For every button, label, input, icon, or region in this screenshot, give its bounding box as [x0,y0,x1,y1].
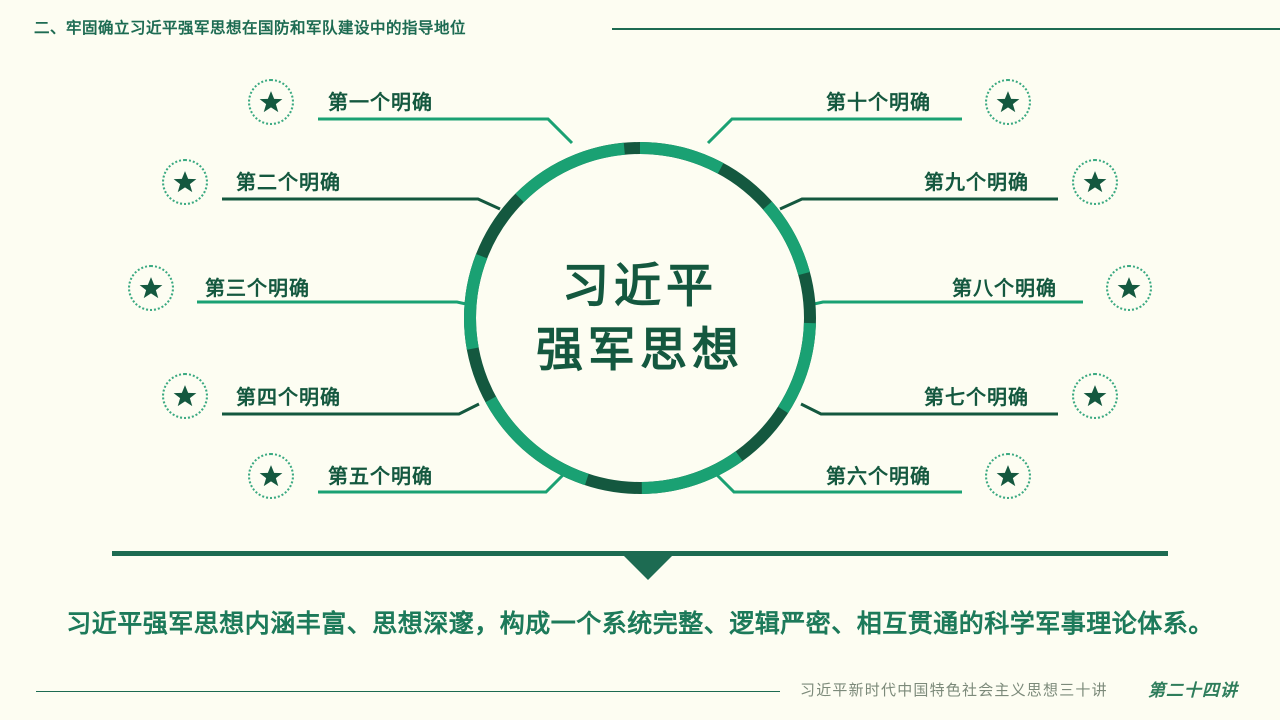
star-icon [1082,383,1108,409]
item-label-10: 第十个明确 [826,86,931,115]
star-icon [1116,275,1142,301]
summary-text: 习近平强军思想内涵丰富、思想深邃，构成一个系统完整、逻辑严密、相互贯通的科学军事… [0,604,1280,640]
item-label-1: 第一个明确 [328,86,433,115]
central-ring [455,133,825,503]
connector-line-3 [197,302,466,304]
star-badge-6[interactable] [985,453,1031,499]
star-badge-3[interactable] [128,265,174,311]
footer-divider [36,691,780,692]
item-label-6: 第六个明确 [826,460,931,489]
star-icon [1082,169,1108,195]
footer-lecture-number: 第二十四讲 [1148,676,1238,701]
page-title: 二、牢固确立习近平强军思想在国防和军队建设中的指导地位 [34,16,466,38]
star-badge-1[interactable] [248,79,294,125]
connector-line-8 [814,302,1083,304]
item-label-4: 第四个明确 [236,381,341,410]
star-icon [172,383,198,409]
down-arrow-icon [624,556,672,580]
star-badge-4[interactable] [162,373,208,419]
star-badge-7[interactable] [1072,373,1118,419]
star-badge-8[interactable] [1106,265,1152,311]
star-badge-5[interactable] [248,453,294,499]
item-label-7: 第七个明确 [924,381,1029,410]
item-label-9: 第九个明确 [924,166,1029,195]
item-label-3: 第三个明确 [205,272,310,301]
star-icon [172,169,198,195]
item-label-8: 第八个明确 [952,272,1057,301]
star-icon [995,89,1021,115]
star-icon [258,463,284,489]
star-icon [138,275,164,301]
footer-series-title: 习近平新时代中国特色社会主义思想三十讲 [800,679,1108,700]
star-badge-2[interactable] [162,159,208,205]
item-label-2: 第二个明确 [236,166,341,195]
star-icon [995,463,1021,489]
item-label-5: 第五个明确 [328,460,433,489]
star-icon [258,89,284,115]
header-divider [612,28,1280,30]
star-badge-10[interactable] [985,79,1031,125]
slide-header: 二、牢固确立习近平强军思想在国防和军队建设中的指导地位 [0,0,1280,50]
star-badge-9[interactable] [1072,159,1118,205]
slide-root: 二、牢固确立习近平强军思想在国防和军队建设中的指导地位 习近平 强军思想 [0,0,1280,720]
